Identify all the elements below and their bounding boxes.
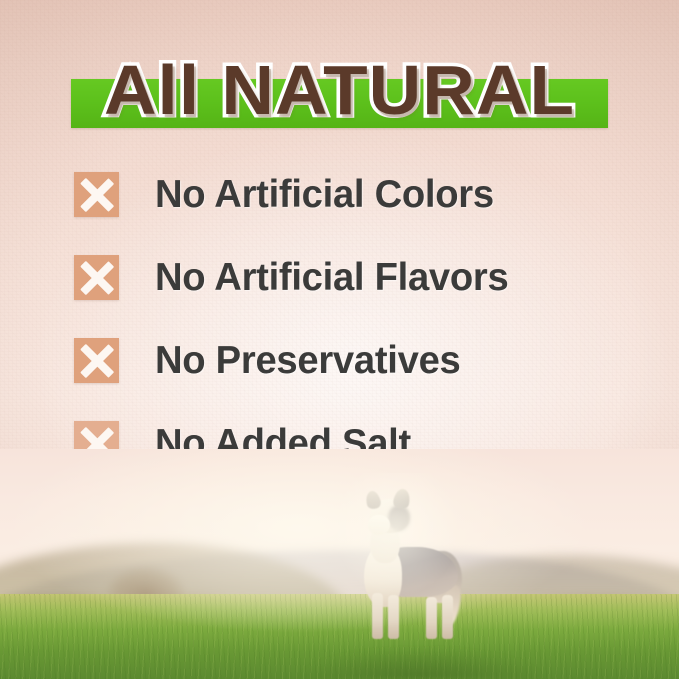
dog-front-left-leg: [372, 593, 383, 639]
dog-muzzle: [368, 515, 390, 535]
dog-right-ear: [392, 487, 412, 510]
x-mark-icon: [74, 338, 119, 383]
page-title: All NATURAL: [0, 47, 679, 133]
claims-list: No Artificial Colors No Artificial Flavo…: [74, 172, 614, 466]
dog-photo-subject: [348, 489, 470, 641]
claim-label: No Preservatives: [155, 339, 460, 383]
headline-banner: All NATURAL: [0, 47, 679, 133]
all-natural-product-poster: All NATURAL No Artificial Colors No Arti…: [0, 0, 679, 679]
grass-mound-shadow: [272, 642, 571, 679]
dog-head-patch: [388, 505, 410, 531]
list-item: No Artificial Flavors: [74, 255, 614, 300]
dog-back-right-leg: [442, 595, 453, 639]
x-mark-icon: [74, 255, 119, 300]
list-item: No Artificial Colors: [74, 172, 614, 217]
dog-front-right-leg: [388, 595, 399, 639]
list-item: No Preservatives: [74, 338, 614, 383]
x-mark-icon: [74, 172, 119, 217]
lifestyle-photo: [0, 449, 679, 679]
dog-back-left-leg: [426, 597, 437, 639]
claim-label: No Artificial Colors: [155, 173, 494, 217]
claim-label: No Artificial Flavors: [155, 256, 508, 300]
